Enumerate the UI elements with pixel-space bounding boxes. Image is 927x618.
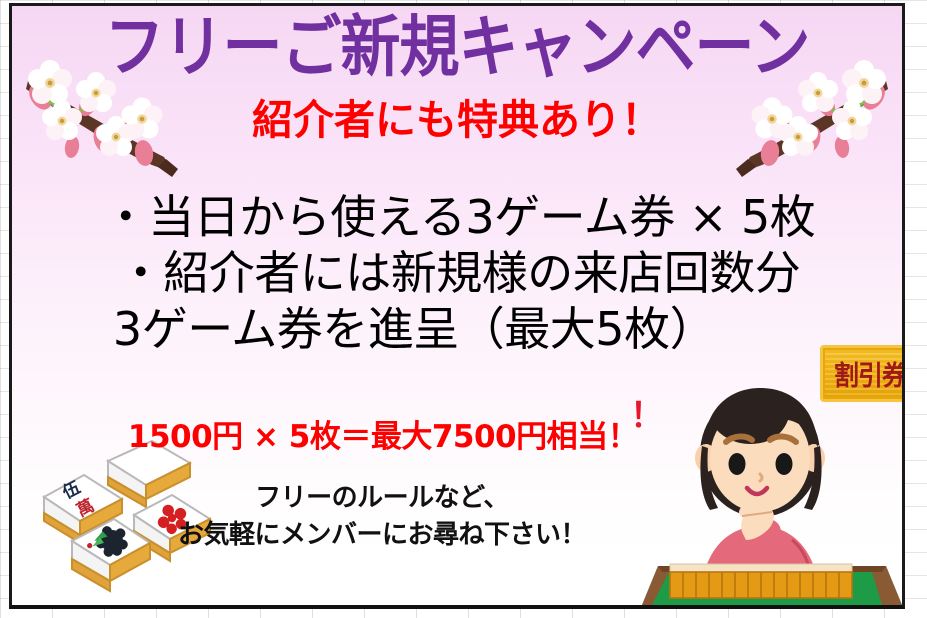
benefit-line-2: ・紹介者には新規様の来店回数分 [12, 245, 902, 301]
note-line-2: お気軽にメンバーにお尋ね下さい！ [12, 517, 752, 554]
exclamation-mark-icon: ！ [630, 399, 664, 433]
poster-canvas: フリーご新規キャンペーン 紹介者にも特典あり！ ・当日から使える3ゲーム券 × … [0, 0, 927, 618]
page-subtitle: 紹介者にも特典あり！ [12, 100, 902, 141]
page-title: フリーご新規キャンペーン [105, 14, 810, 83]
benefit-line-1: ・当日から使える3ゲーム券 × 5枚 [12, 189, 902, 245]
campaign-poster: フリーご新規キャンペーン 紹介者にも特典あり！ ・当日から使える3ゲーム券 × … [9, 3, 905, 609]
discount-coupon-badge: 割引券 [820, 345, 905, 402]
note-line-1: フリーのルールなど、 [12, 480, 752, 517]
benefit-list: ・当日から使える3ゲーム券 × 5枚 ・紹介者には新規様の来店回数分 3ゲーム券… [12, 189, 902, 357]
coupon-label: 割引券 [834, 354, 905, 393]
benefit-line-3: 3ゲーム券を進呈（最大5枚） [12, 301, 902, 357]
title-block: フリーご新規キャンペーン [12, 14, 902, 75]
note-block: フリーのルールなど、 お気軽にメンバーにお尋ね下さい！ [12, 480, 752, 554]
